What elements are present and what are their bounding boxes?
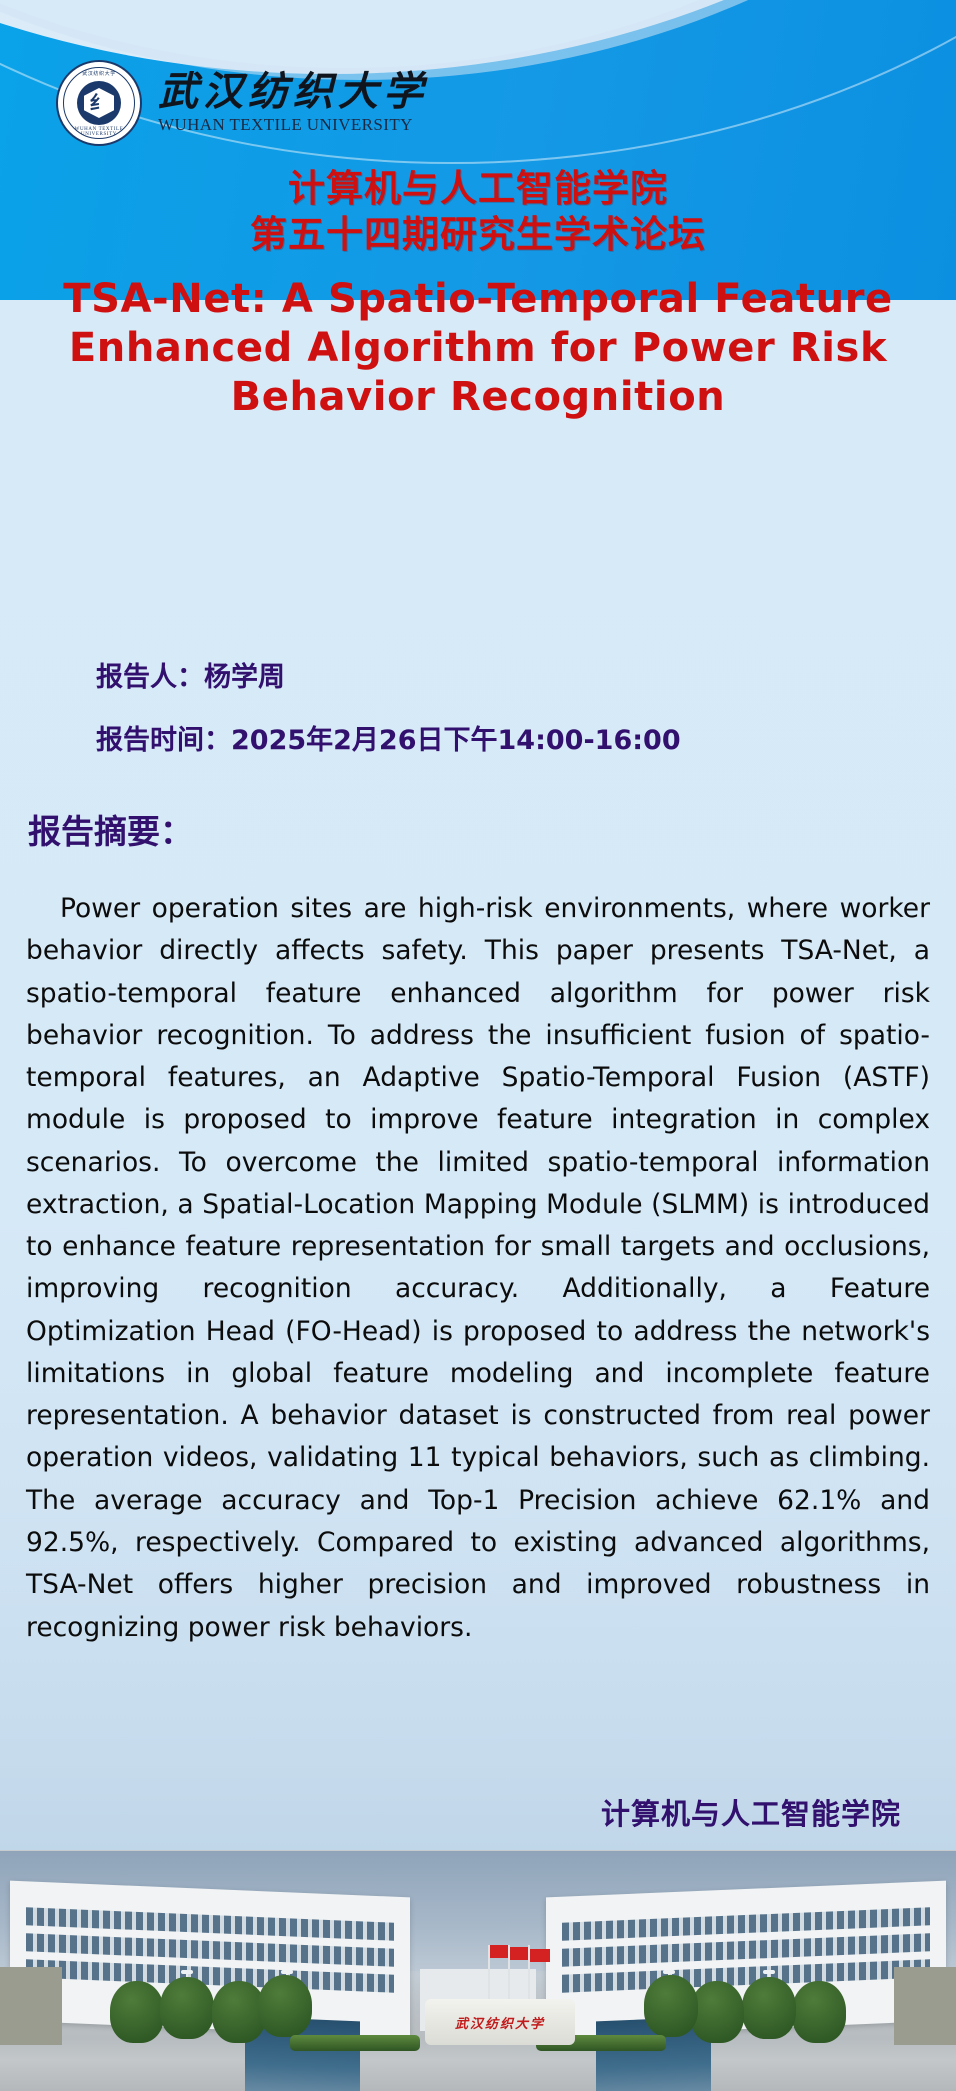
campus-photo: 武汉纺织大学	[0, 1850, 956, 2091]
forum-heading: 计算机与人工智能学院 第五十四期研究生学术论坛	[0, 166, 956, 258]
university-logo: 武汉纺织大学 纟 WUHAN TEXTILE UNIVERSITY 武汉纺织大学…	[56, 60, 428, 146]
photo-flag-icon	[530, 1949, 550, 1962]
time-line: 报告时间：2025年2月26日下午14:00-16:00	[96, 718, 681, 757]
university-seal-icon: 武汉纺织大学 纟 WUHAN TEXTILE UNIVERSITY	[56, 60, 142, 146]
photo-flag-icon	[510, 1947, 530, 1960]
photo-tree	[110, 1981, 164, 2043]
photo-tree	[644, 1975, 698, 2037]
abstract-body: Power operation sites are high-risk envi…	[26, 888, 930, 1649]
abstract-heading: 报告摘要：	[28, 805, 193, 853]
photo-gate-pylon-left	[0, 1967, 62, 2045]
photo-tree	[792, 1981, 846, 2043]
seal-glyph: 纟	[89, 94, 108, 113]
university-name-en: WUHAN TEXTILE UNIVERSITY	[158, 115, 428, 135]
talk-meta: 报告人：杨学周 报告时间：2025年2月26日下午14:00-16:00	[96, 655, 681, 781]
photo-tree	[690, 1981, 744, 2043]
photo-stone-text: 武汉纺织大学	[455, 2013, 545, 2032]
university-wordmark: 武汉纺织大学 WUHAN TEXTILE UNIVERSITY	[158, 71, 428, 135]
speaker-line: 报告人：杨学周	[96, 655, 681, 694]
talk-title-en: TSA-Net: A Spatio-Temporal Feature Enhan…	[38, 275, 918, 423]
photo-tree	[258, 1975, 312, 2037]
poster-root: 武汉纺织大学 纟 WUHAN TEXTILE UNIVERSITY 武汉纺织大学…	[0, 0, 956, 2091]
forum-heading-line1: 计算机与人工智能学院	[0, 166, 956, 212]
photo-flag-icon	[490, 1945, 510, 1958]
forum-heading-line2: 第五十四期研究生学术论坛	[0, 212, 956, 258]
photo-campus-stone-sign: 武汉纺织大学	[425, 1999, 575, 2045]
seal-arc-bottom-text: WUHAN TEXTILE UNIVERSITY	[58, 127, 140, 137]
seal-core: 纟	[77, 81, 121, 125]
photo-tree	[160, 1977, 214, 2039]
seal-arc-top-text: 武汉纺织大学	[58, 70, 140, 77]
university-name-cn: 武汉纺织大学	[158, 71, 428, 113]
photo-hedge	[290, 2035, 420, 2051]
photo-ground	[0, 2039, 956, 2091]
department-signature: 计算机与人工智能学院	[601, 1791, 901, 1833]
photo-tree	[742, 1977, 796, 2039]
photo-gate-pylon-right	[894, 1967, 956, 2045]
